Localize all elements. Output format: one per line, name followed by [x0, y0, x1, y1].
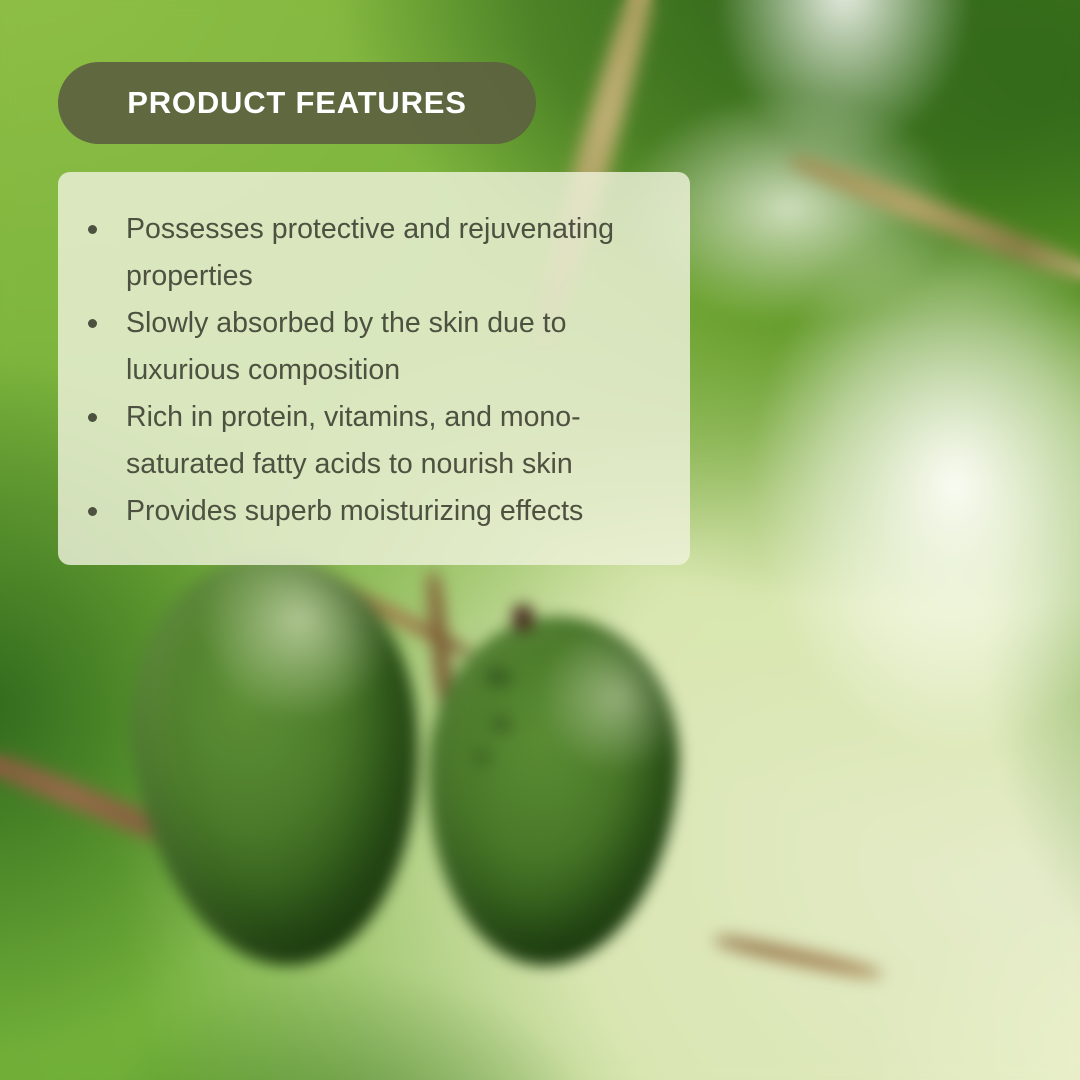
bullet-icon: [88, 319, 97, 328]
feature-text: Possesses protective and rejuvenating pr…: [126, 213, 614, 292]
avocado-stem-cap: [513, 605, 533, 631]
bullet-icon: [88, 413, 97, 422]
feature-text: Rich in protein, vitamins, and mono-satu…: [126, 401, 581, 480]
bullet-icon: [88, 507, 97, 516]
avocado-blemish-spot: [473, 750, 490, 763]
avocado-blemish-spot: [491, 716, 512, 731]
feature-item: Slowly absorbed by the skin due to luxur…: [88, 300, 660, 394]
feature-item: Possesses protective and rejuvenating pr…: [88, 206, 660, 300]
page-title: PRODUCT FEATURES: [127, 85, 466, 121]
features-card: Possesses protective and rejuvenating pr…: [58, 172, 690, 565]
feature-item: Provides superb moisturizing effects: [88, 488, 660, 535]
product-features-graphic: PRODUCT FEATURES Possesses protective an…: [0, 0, 1080, 1080]
feature-item: Rich in protein, vitamins, and mono-satu…: [88, 394, 660, 488]
product-features-title-pill: PRODUCT FEATURES: [58, 62, 536, 144]
feature-text: Slowly absorbed by the skin due to luxur…: [126, 307, 566, 386]
features-list: Possesses protective and rejuvenating pr…: [88, 206, 660, 535]
bullet-icon: [88, 225, 97, 234]
feature-text: Provides superb moisturizing effects: [126, 495, 583, 527]
avocado-blemish-spot: [484, 667, 511, 687]
